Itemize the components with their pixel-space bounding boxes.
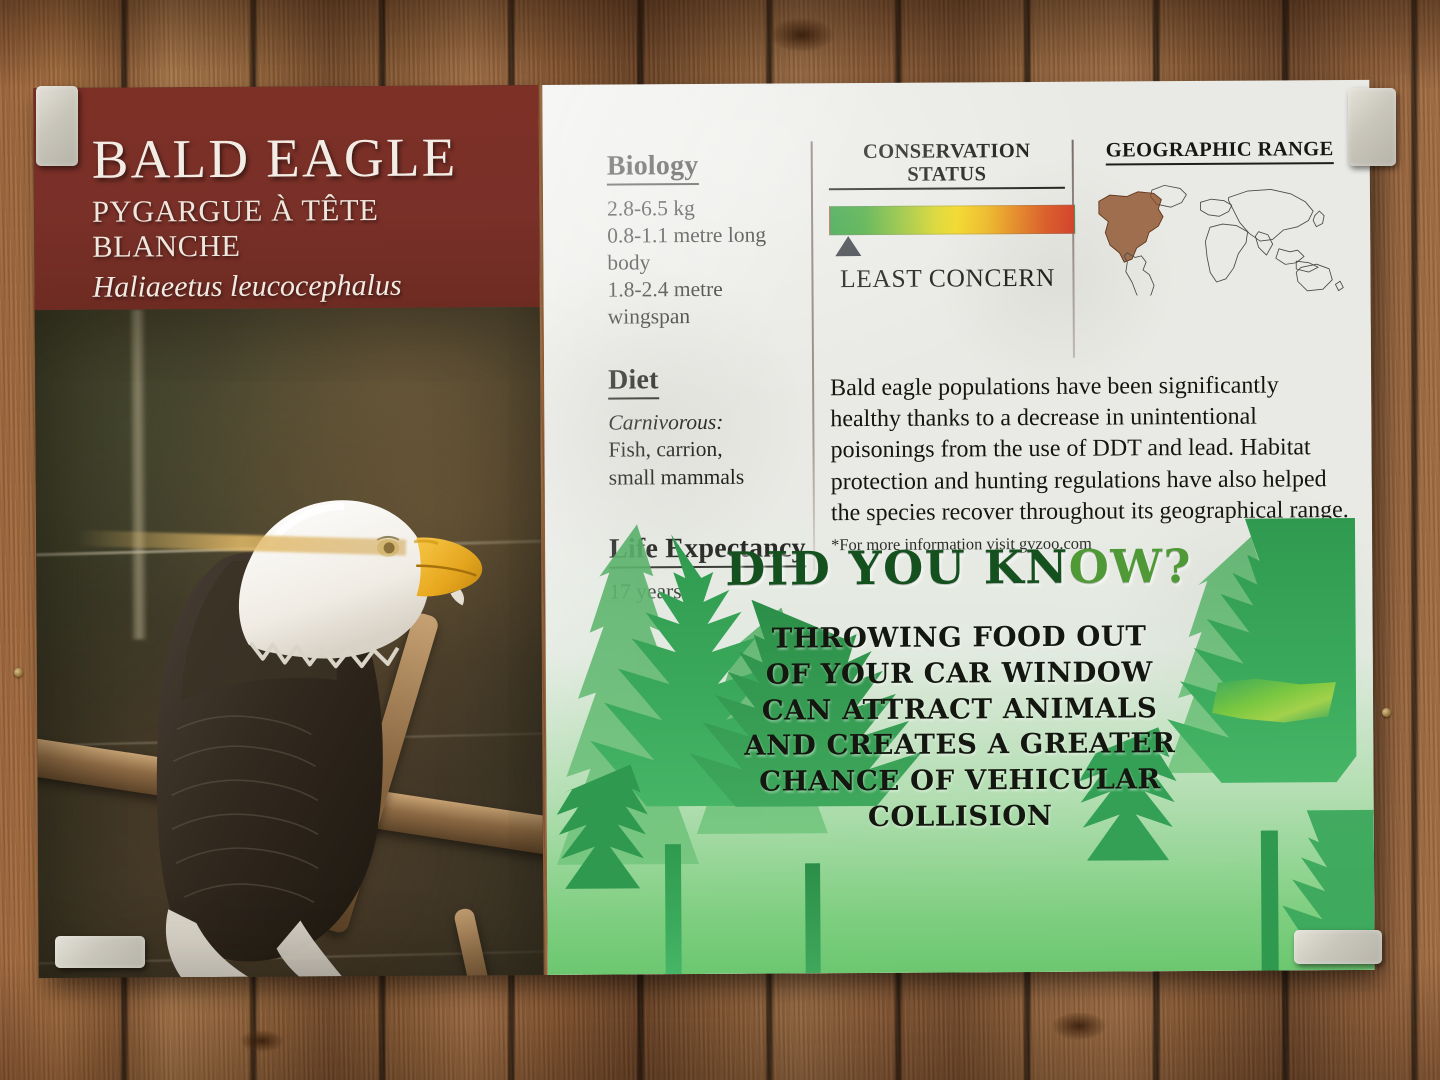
message-line: AND CREATES A GREATER [546, 725, 1373, 766]
diet-values: Carnivorous: Fish, carrion, small mammal… [608, 409, 808, 491]
conservation-status-block: CONSERVATION STATUS LEAST CONCERN [829, 140, 1066, 294]
column-divider [811, 141, 816, 571]
conservation-status-gradient-bar [829, 205, 1075, 236]
mounting-bracket-bottom-right [1294, 930, 1382, 964]
mounting-screw [1382, 708, 1391, 717]
diet-type: Carnivorous: [608, 409, 808, 437]
conservation-status-heading: CONSERVATION STATUS [829, 140, 1065, 190]
mounting-bracket-top-left [36, 86, 78, 166]
world-map-icon [1091, 176, 1350, 296]
wall-top-shading [0, 0, 1440, 90]
sign-right-panel: Biology 2.8-6.5 kg 0.8-1.1 metre long bo… [542, 80, 1374, 975]
eagle-illustration [35, 307, 544, 978]
mounting-bracket-bottom-left [55, 936, 145, 968]
page-title: BALD EAGLE [92, 129, 515, 187]
biology-values: 2.8-6.5 kg 0.8-1.1 metre long body 1.8-2… [607, 194, 808, 331]
conservation-status-marker [835, 236, 861, 256]
diet-item-line-2: small mammals [609, 463, 809, 491]
did-you-know-heading: DID YOU KNOW? [545, 538, 1372, 597]
message-line: THROWING FOOD OUT [546, 618, 1373, 659]
message-line: COLLISION [547, 797, 1374, 838]
conservation-status-value: LEAST CONCERN [829, 263, 1065, 294]
interpretive-sign: BALD EAGLE PYGARGUE À TÊTE BLANCHE Halia… [33, 80, 1374, 978]
description-paragraph: Bald eagle populations have been signifi… [830, 370, 1356, 529]
screenshot-root: BALD EAGLE PYGARGUE À TÊTE BLANCHE Halia… [0, 0, 1440, 1080]
section-divider [1072, 140, 1075, 358]
message-line: CAN ATTRACT ANIMALS [546, 689, 1373, 730]
title-scientific: Haliaeetus leucocephalus [92, 268, 515, 305]
diet-heading: Diet [608, 365, 659, 400]
biology-body-length: 0.8-1.1 metre long body [607, 221, 807, 276]
did-you-know-heading-part2: OW? [1069, 539, 1193, 594]
biology-heading: Biology [607, 150, 699, 186]
forest-scene: DID YOU KNOW? THROWING FOOD OUT OF YOUR … [545, 510, 1375, 975]
message-line: OF YOUR CAR WINDOW [546, 654, 1373, 695]
message-line: CHANCE OF VEHICULAR [546, 761, 1373, 802]
did-you-know-message: THROWING FOOD OUT OF YOUR CAR WINDOW CAN… [546, 618, 1374, 838]
did-you-know-heading-part1: DID YOU KN [725, 540, 1069, 596]
mounting-bracket-top-right [1348, 88, 1396, 166]
geographic-range-block: GEOGRAPHIC RANGE [1091, 138, 1350, 301]
biology-weight: 2.8-6.5 kg [607, 194, 807, 222]
mounting-screw [14, 668, 23, 677]
eagle-photograph [35, 307, 544, 978]
sign-header-band: BALD EAGLE PYGARGUE À TÊTE BLANCHE Halia… [33, 85, 539, 310]
wall-bottom-shading [0, 960, 1440, 1080]
diet-item-line-1: Fish, carrion, [608, 436, 808, 464]
title-french: PYGARGUE À TÊTE BLANCHE [92, 192, 515, 265]
sign-left-panel: BALD EAGLE PYGARGUE À TÊTE BLANCHE Halia… [33, 85, 543, 978]
geographic-range-heading: GEOGRAPHIC RANGE [1106, 138, 1334, 165]
biology-wingspan: 1.8-2.4 metre wingspan [607, 276, 807, 331]
